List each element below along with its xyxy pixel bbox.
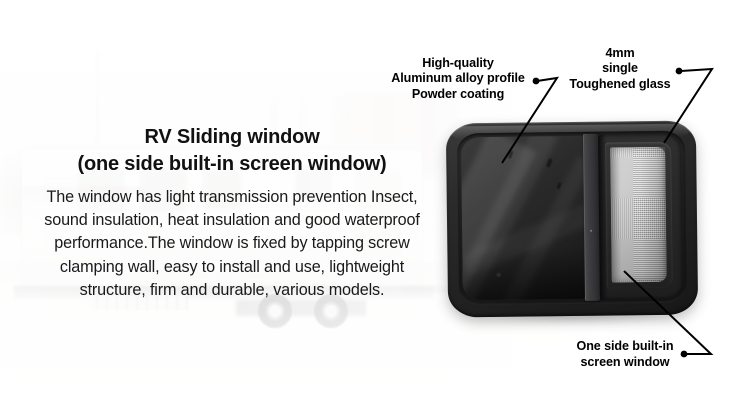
callout-glass-line-1: 4mm: [560, 46, 680, 61]
callout-built-in-screen-window: One side built-in screen window: [566, 338, 684, 370]
callout-screen-line-1: One side built-in: [566, 338, 684, 354]
callout-alloy-line-1: High-quality: [378, 56, 538, 71]
callout-alloy-line-2: Aluminum alloy profile: [378, 71, 538, 86]
callout-glass-line-2: single: [560, 61, 680, 76]
callout-alloy-line-3: Powder coating: [378, 87, 538, 102]
callout-aluminum-alloy-profile: High-quality Aluminum alloy profile Powd…: [378, 56, 538, 102]
callout-toughened-glass: 4mm single Toughened glass: [560, 46, 680, 92]
callout-glass-line-3: Toughened glass: [560, 77, 680, 92]
infographic-canvas: RV Sliding window (one side built-in scr…: [0, 0, 750, 400]
callout-screen-line-2: screen window: [566, 354, 684, 370]
